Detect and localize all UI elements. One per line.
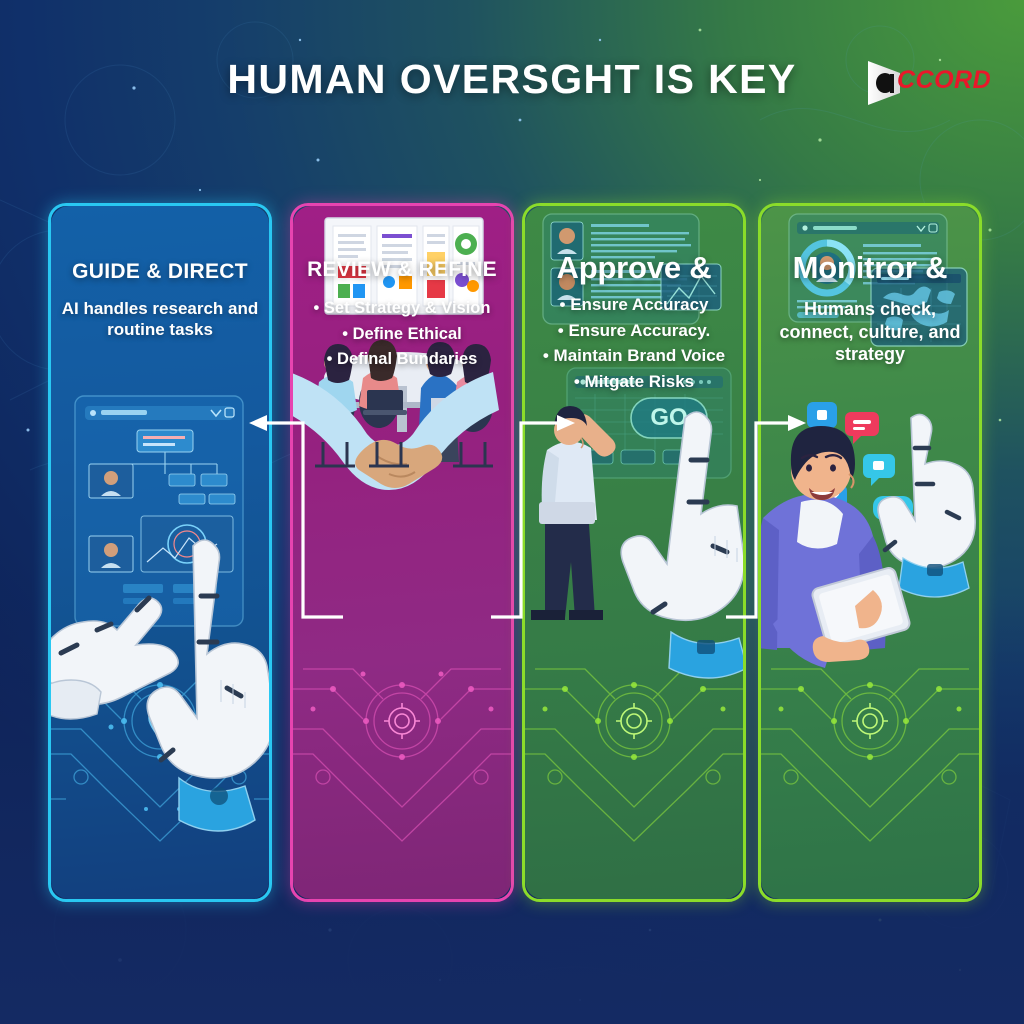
panel-bullets-review-refine: Set Strategy & Vision Define Ethical Def… xyxy=(297,296,507,373)
panel-heading-approve: Approve & xyxy=(533,250,735,286)
list-item: Maintain Brand Voice xyxy=(529,343,739,369)
panel-guide-direct[interactable]: GUIDE & DIRECT AI handles research and r… xyxy=(48,203,272,902)
list-item: Ensure Accuracy xyxy=(529,292,739,318)
panel-heading-review-refine: REVIEW & REFINE xyxy=(301,258,503,282)
go-button-label: GO xyxy=(650,404,687,431)
accord-logo: CCORD xyxy=(866,58,986,110)
list-item: Set Strategy & Vision xyxy=(297,296,507,322)
panel-bullets-approve: Ensure Accuracy Ensure Accuracy. Maintai… xyxy=(529,292,739,394)
panel-heading-guide-direct: GUIDE & DIRECT xyxy=(59,260,261,284)
list-item: Define Ethical xyxy=(297,322,507,348)
connector-arrow-right-2 xyxy=(720,395,810,625)
panel-subtitle-monitror: Humans check, connect, culture, and stra… xyxy=(769,298,971,366)
list-item: Definal Bundaries xyxy=(297,347,507,373)
connector-arrow-left xyxy=(245,395,347,625)
panel-subtitle-guide-direct: AI handles research and routine tasks xyxy=(59,298,261,341)
infographic-canvas: HUMAN OVERSGHT IS KEY CCORD xyxy=(0,0,1024,1024)
list-item: Mitgate Risks xyxy=(529,369,739,395)
list-item: Ensure Accuracy. xyxy=(529,318,739,344)
connector-arrow-right-1 xyxy=(487,395,579,625)
panel-heading-monitror: Monitror & xyxy=(769,250,971,286)
logo-wordmark: CCORD xyxy=(897,66,991,95)
